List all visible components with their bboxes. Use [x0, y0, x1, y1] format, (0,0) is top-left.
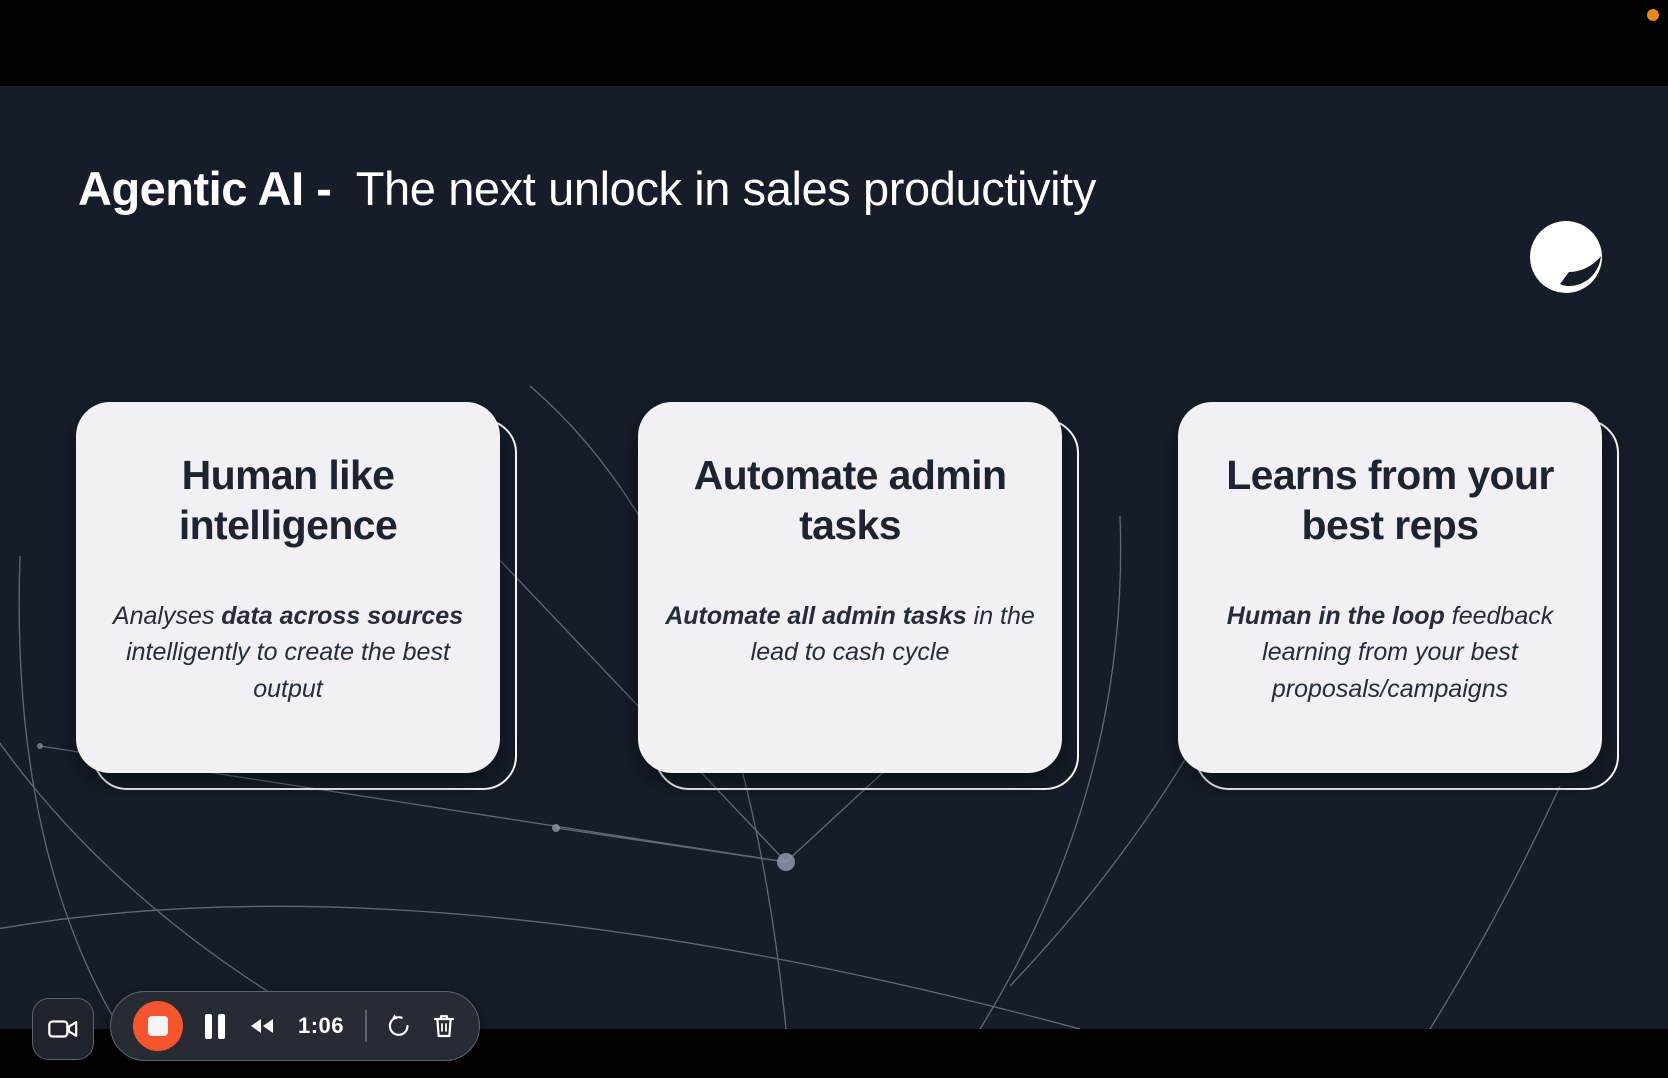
camera-toggle-button[interactable]	[32, 998, 94, 1060]
feature-card-2-surface[interactable]: Automate admin tasks Automate all admin …	[638, 402, 1062, 773]
constellation-node-main	[777, 853, 795, 871]
feature-card-2[interactable]: Automate admin tasks Automate all admin …	[638, 402, 1062, 773]
restart-recording-button[interactable]	[385, 1012, 413, 1040]
recording-timer: 1:06	[295, 1013, 347, 1039]
constellation-node-left	[37, 743, 43, 749]
feature-card-2-body-bold: Automate all admin tasks	[665, 602, 966, 630]
slide-title-rest: The next unlock in sales productivity	[344, 161, 1096, 216]
feature-card-3[interactable]: Learns from your best reps Human in the …	[1178, 402, 1602, 773]
recorder-control-bar: 1:06	[110, 991, 480, 1061]
rewind-icon	[247, 1015, 277, 1037]
feature-card-1[interactable]: Human like intelligence Analyses data ac…	[76, 402, 500, 773]
feature-card-1-body-bold: data across sources	[221, 602, 463, 630]
trash-icon	[431, 1012, 457, 1040]
screen-root: Agentic AI - The next unlock in sales pr…	[0, 0, 1668, 1078]
video-camera-icon	[48, 1018, 78, 1040]
letterbox-top	[0, 0, 1668, 86]
restart-arrow-icon	[385, 1012, 413, 1040]
stop-square-icon	[148, 1016, 168, 1036]
feature-card-3-title: Learns from your best reps	[1204, 450, 1576, 550]
control-divider	[365, 1010, 367, 1042]
stop-recording-button[interactable]	[133, 1001, 183, 1051]
feature-card-1-title: Human like intelligence	[102, 450, 474, 550]
feature-card-3-surface[interactable]: Learns from your best reps Human in the …	[1178, 402, 1602, 773]
feature-card-1-body-tail: intelligently to create the best output	[126, 638, 450, 702]
rewind-button[interactable]	[247, 1015, 277, 1037]
feature-card-3-body-bold: Human in the loop	[1227, 602, 1445, 630]
delete-recording-button[interactable]	[431, 1012, 457, 1040]
pause-recording-button[interactable]	[201, 1011, 229, 1042]
feature-card-1-body: Analyses data across sources intelligent…	[102, 598, 474, 707]
presentation-slide: Agentic AI - The next unlock in sales pr…	[0, 86, 1668, 1029]
feature-card-3-body: Human in the loop feedback learning from…	[1204, 598, 1576, 707]
constellation-node-small	[552, 824, 560, 832]
feature-card-2-body: Automate all admin tasks in the lead to …	[664, 598, 1036, 671]
pause-bar-right-icon	[218, 1014, 225, 1039]
pause-bar-left-icon	[205, 1014, 212, 1039]
feature-card-1-surface[interactable]: Human like intelligence Analyses data ac…	[76, 402, 500, 773]
feature-card-2-title: Automate admin tasks	[664, 450, 1036, 550]
company-logo-icon	[1529, 220, 1603, 294]
slide-title: Agentic AI - The next unlock in sales pr…	[78, 148, 1528, 228]
feature-card-1-body-lead: Analyses	[113, 602, 221, 630]
slide-title-strong: Agentic AI -	[78, 161, 344, 216]
recording-indicator-dot	[1647, 9, 1659, 21]
